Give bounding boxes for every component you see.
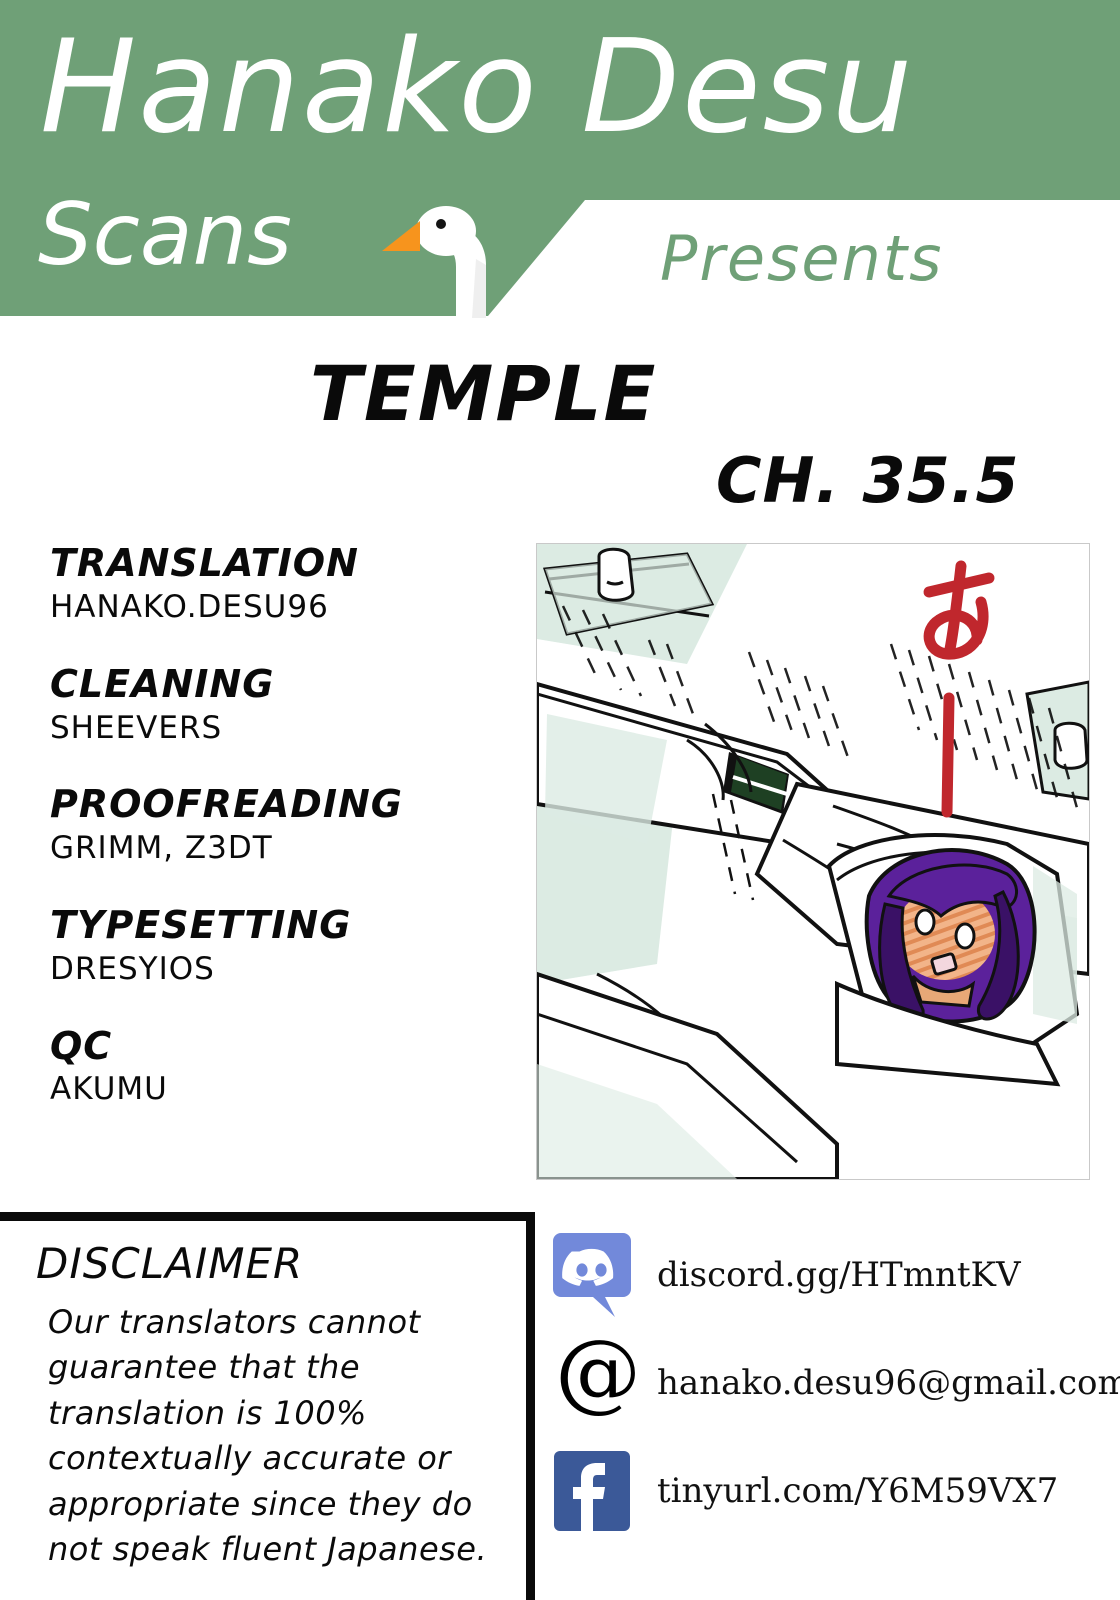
brand-subtitle: Scans: [38, 192, 292, 278]
credit-role: QC: [50, 1027, 500, 1067]
social-row-facebook[interactable]: tinyurl.com/Y6M59VX7: [553, 1438, 1113, 1543]
credit-entry: TYPESETTING DRESYIOS: [50, 906, 500, 989]
credit-role: CLEANING: [50, 665, 500, 705]
at-sign-icon: @: [553, 1341, 631, 1425]
facebook-icon[interactable]: [553, 1449, 631, 1533]
page-title: TEMPLE: [310, 356, 657, 432]
brand-title: Hanako Desu: [40, 24, 1100, 152]
credit-role: PROOFREADING: [50, 785, 500, 825]
credit-entry: QC AKUMU: [50, 1027, 500, 1110]
credit-role: TRANSLATION: [50, 544, 500, 584]
email-label[interactable]: hanako.desu96@gmail.com: [657, 1366, 1120, 1400]
social-row-discord[interactable]: discord.gg/HTmntKV: [553, 1222, 1113, 1327]
credit-role: TYPESETTING: [50, 906, 500, 946]
disclaimer-body: Our translators cannot guarantee that th…: [48, 1300, 518, 1573]
chapter-label: CH. 35.5: [716, 450, 1020, 512]
credit-name: DRESYIOS: [50, 950, 500, 989]
credit-name: SHEEVERS: [50, 709, 500, 748]
disclaimer-title: DISCLAIMER: [36, 1243, 303, 1285]
credit-name: HANAKO.DESU96: [50, 588, 500, 627]
social-links: discord.gg/HTmntKV @ hanako.desu96@gmail…: [553, 1222, 1113, 1546]
presents-label: Presents: [660, 228, 943, 290]
discord-link-label[interactable]: discord.gg/HTmntKV: [657, 1258, 1021, 1292]
at-sign-glyph: @: [555, 1337, 631, 1408]
credits-list: TRANSLATION HANAKO.DESU96 CLEANING SHEEV…: [50, 544, 500, 1147]
credit-entry: TRANSLATION HANAKO.DESU96: [50, 544, 500, 627]
social-row-email[interactable]: @ hanako.desu96@gmail.com: [553, 1330, 1113, 1435]
facebook-link-label[interactable]: tinyurl.com/Y6M59VX7: [657, 1474, 1058, 1508]
credit-name: AKUMU: [50, 1070, 500, 1109]
credit-entry: CLEANING SHEEVERS: [50, 665, 500, 748]
credit-name: GRIMM, Z3DT: [50, 829, 500, 868]
credits-page: Hanako Desu Scans Presents TEMPLE CH. 35…: [0, 0, 1120, 1600]
goose-icon: [368, 193, 498, 318]
credit-entry: PROOFREADING GRIMM, Z3DT: [50, 785, 500, 868]
manga-panel-preview: あー: [536, 543, 1090, 1180]
discord-icon[interactable]: [553, 1233, 631, 1317]
